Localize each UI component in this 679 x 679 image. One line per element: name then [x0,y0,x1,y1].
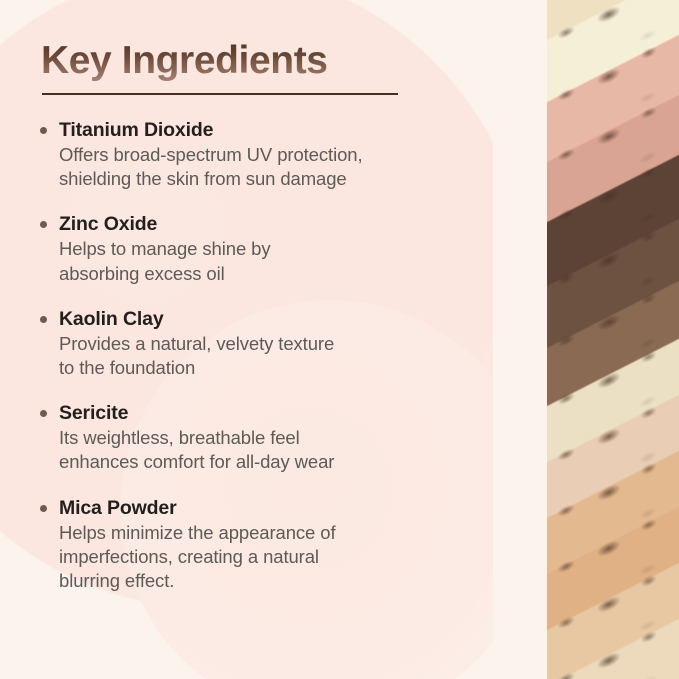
list-item: Kaolin ClayProvides a natural, velvety t… [38,307,454,380]
ingredient-name: Sericite [59,401,454,426]
bullet-icon [40,127,47,134]
page-title-text: Key Ingredients [41,41,328,82]
ingredient-description: Helps minimize the appearance of imperfe… [59,521,454,594]
title-underline [42,93,398,95]
list-item: Titanium DioxideOffers broad-spectrum UV… [38,118,454,191]
bullet-icon [40,316,47,323]
bullet-icon [40,221,47,228]
ingredient-name: Titanium Dioxide [59,118,454,143]
ingredient-description: Helps to manage shine by absorbing exces… [59,237,454,285]
page-title: Key Ingredients [41,41,328,82]
ingredient-name: Zinc Oxide [59,212,454,237]
ingredient-name: Mica Powder [59,496,454,521]
powder-bands [493,0,679,679]
powder-swatch-image [493,0,679,679]
bullet-icon [40,410,47,417]
ingredient-name: Kaolin Clay [59,307,454,332]
list-item: Mica PowderHelps minimize the appearance… [38,496,454,594]
ingredient-description: Provides a natural, velvety texture to t… [59,332,454,380]
bullet-icon [40,505,47,512]
ingredient-description: Offers broad-spectrum UV protection, shi… [59,143,454,191]
text-column: Key Ingredients Titanium DioxideOffers b… [0,0,470,679]
list-item: Zinc OxideHelps to manage shine by absor… [38,212,454,285]
list-item: SericiteIts weightless, breathable feel … [38,401,454,474]
ingredients-infographic: Key Ingredients Titanium DioxideOffers b… [0,0,679,679]
ingredient-list: Titanium DioxideOffers broad-spectrum UV… [38,118,454,593]
ingredient-description: Its weightless, breathable feel enhances… [59,426,454,474]
